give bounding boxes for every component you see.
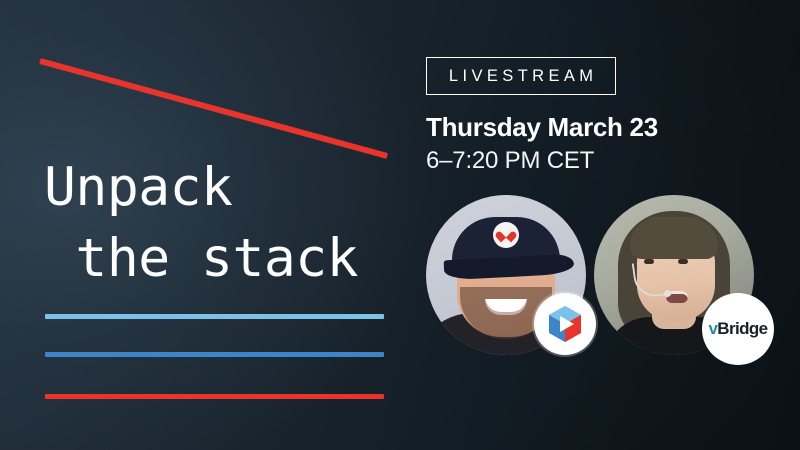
avatar-eye-right xyxy=(678,259,688,264)
livestream-promo-poster: Unpack the stack LIVESTREAM Thursday Mar… xyxy=(0,0,800,450)
left-panel: Unpack the stack xyxy=(0,0,410,450)
vbridge-logo-v: v xyxy=(708,319,717,338)
cube-play-logo-icon xyxy=(534,293,596,355)
right-panel: LIVESTREAM Thursday March 23 6–7:20 PM C… xyxy=(410,0,800,450)
page-title: Unpack the stack xyxy=(44,152,404,294)
decorative-rule-red xyxy=(45,394,384,399)
diagonal-red-line xyxy=(39,58,388,159)
speaker-card-tim-benniks: Tim Benniks @timbenniks xyxy=(426,195,586,355)
vbridge-logo-icon: vBridge xyxy=(702,293,774,365)
speaker-card-elian-van-cutsem: vBridge Elian Van Cutsem @eliancodes xyxy=(594,195,754,355)
avatar-hair-top xyxy=(630,217,718,259)
heart-emblem-icon xyxy=(493,222,519,248)
headline-line-1: Unpack xyxy=(44,157,232,218)
headset-mic-tip xyxy=(664,290,671,297)
livestream-badge-label: LIVESTREAM xyxy=(445,67,598,86)
decorative-rule-blue xyxy=(45,352,384,357)
headline-line-2: the stack xyxy=(44,228,358,289)
decorative-rule-light-blue xyxy=(45,314,384,319)
event-time: 6–7:20 PM CET xyxy=(426,147,594,175)
livestream-badge: LIVESTREAM xyxy=(426,57,616,95)
event-date: Thursday March 23 xyxy=(426,112,658,143)
vbridge-logo-text: vBridge xyxy=(708,319,767,339)
vbridge-logo-rest: Bridge xyxy=(717,319,767,338)
